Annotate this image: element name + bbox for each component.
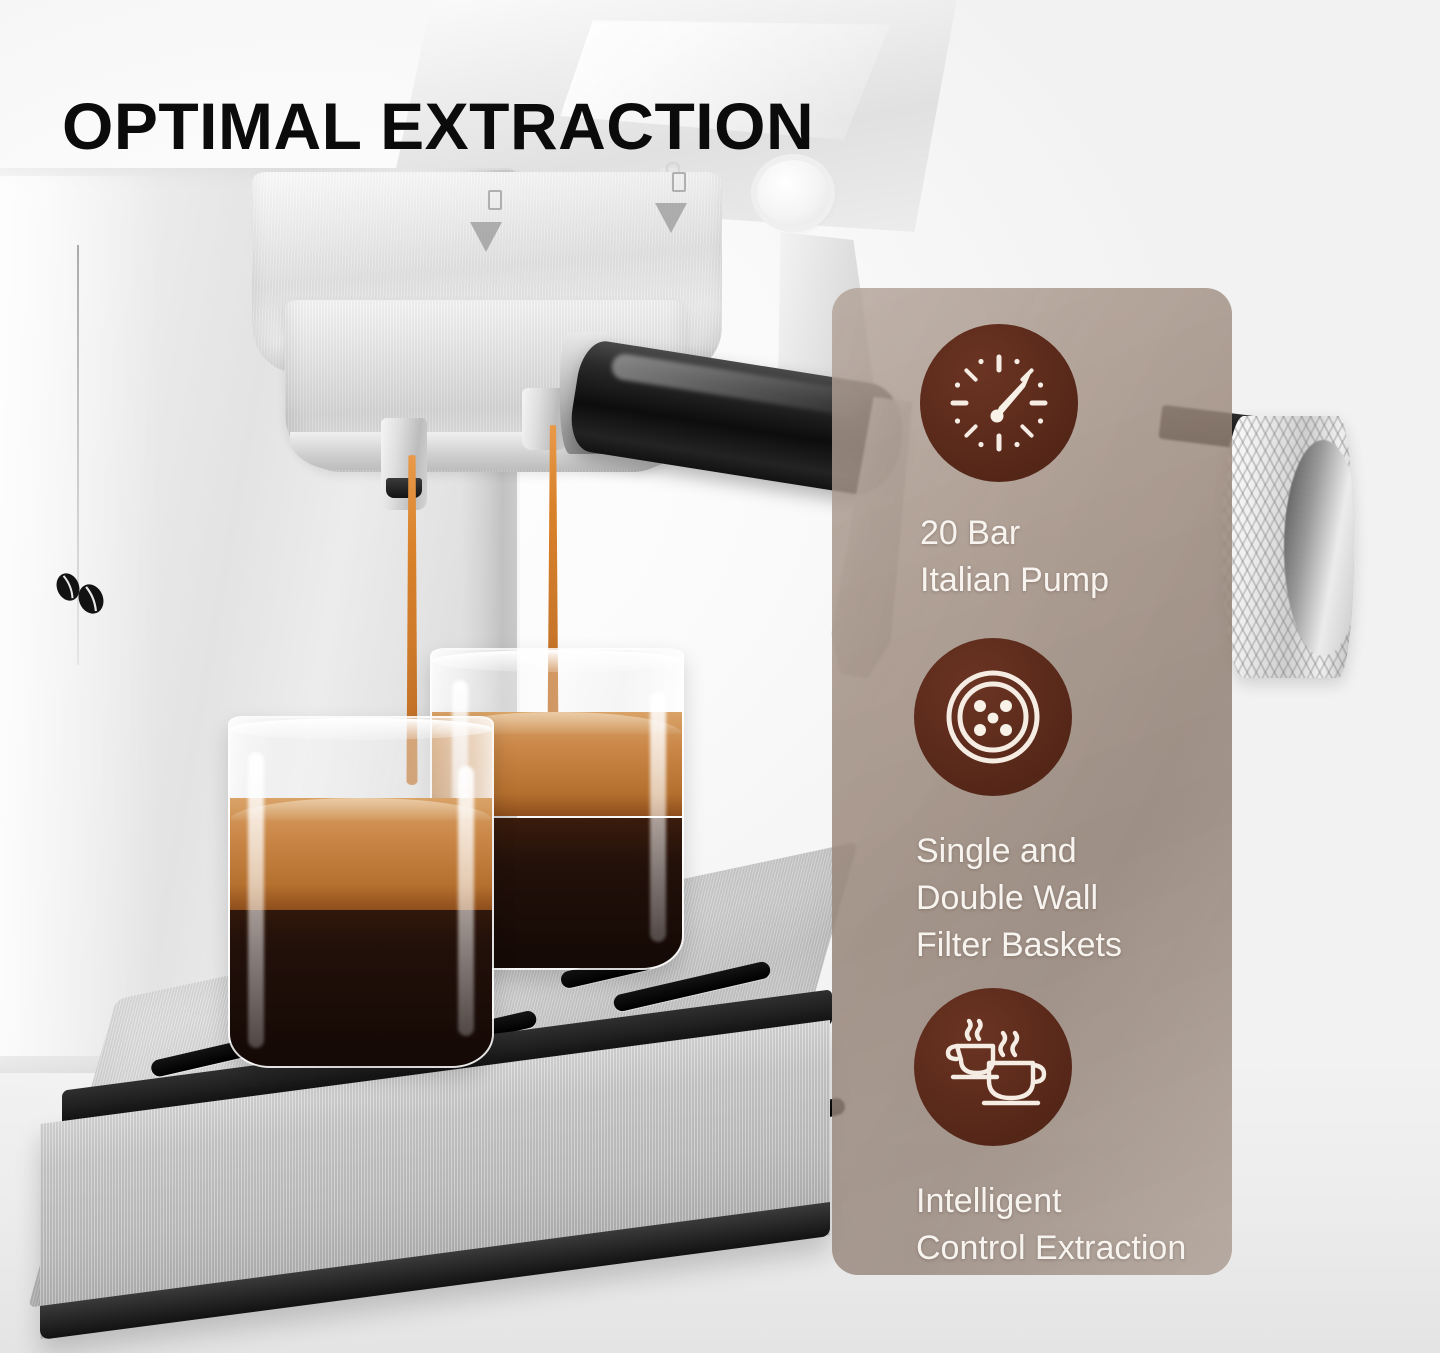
steam-control-knob[interactable] [1222, 416, 1354, 678]
feature-label-pressure: 20 Bar Italian Pump [920, 510, 1109, 604]
knob-face [1284, 440, 1354, 656]
feature-label-filter-baskets: Single and Double Wall Filter Baskets [916, 828, 1122, 969]
glass-rim [432, 650, 682, 672]
portafilter-spout-tip-left [386, 478, 422, 498]
lock-arrow-right-icon [655, 203, 687, 233]
glass-highlight [650, 692, 666, 942]
glass-rim [230, 718, 492, 740]
lock-arrow-left-icon [470, 222, 502, 252]
alignment-tick-left-icon [488, 190, 502, 210]
cup-warming-recess [757, 160, 829, 226]
pressure-gauge-icon [920, 324, 1078, 482]
two-coffee-cups-icon [914, 988, 1072, 1146]
crema-foam [230, 798, 492, 820]
alignment-tick-right-icon [672, 172, 686, 192]
glass-highlight [458, 766, 474, 1036]
page-title: OPTIMAL EXTRACTION [62, 88, 814, 164]
feature-panel: 20 Bar Italian Pump Single and Double [832, 288, 1232, 1275]
espresso-glass-front [228, 716, 494, 1068]
product-feature-image: OPTIMAL EXTRACTION [0, 0, 1440, 1353]
espresso-liquid [230, 888, 492, 1066]
filter-basket-icon [914, 638, 1072, 796]
espresso-crema [230, 798, 492, 910]
glass-highlight [248, 752, 264, 1048]
coffee-beans-icon [50, 572, 112, 616]
feature-label-control-extraction: Intelligent Control Extraction [916, 1178, 1186, 1272]
